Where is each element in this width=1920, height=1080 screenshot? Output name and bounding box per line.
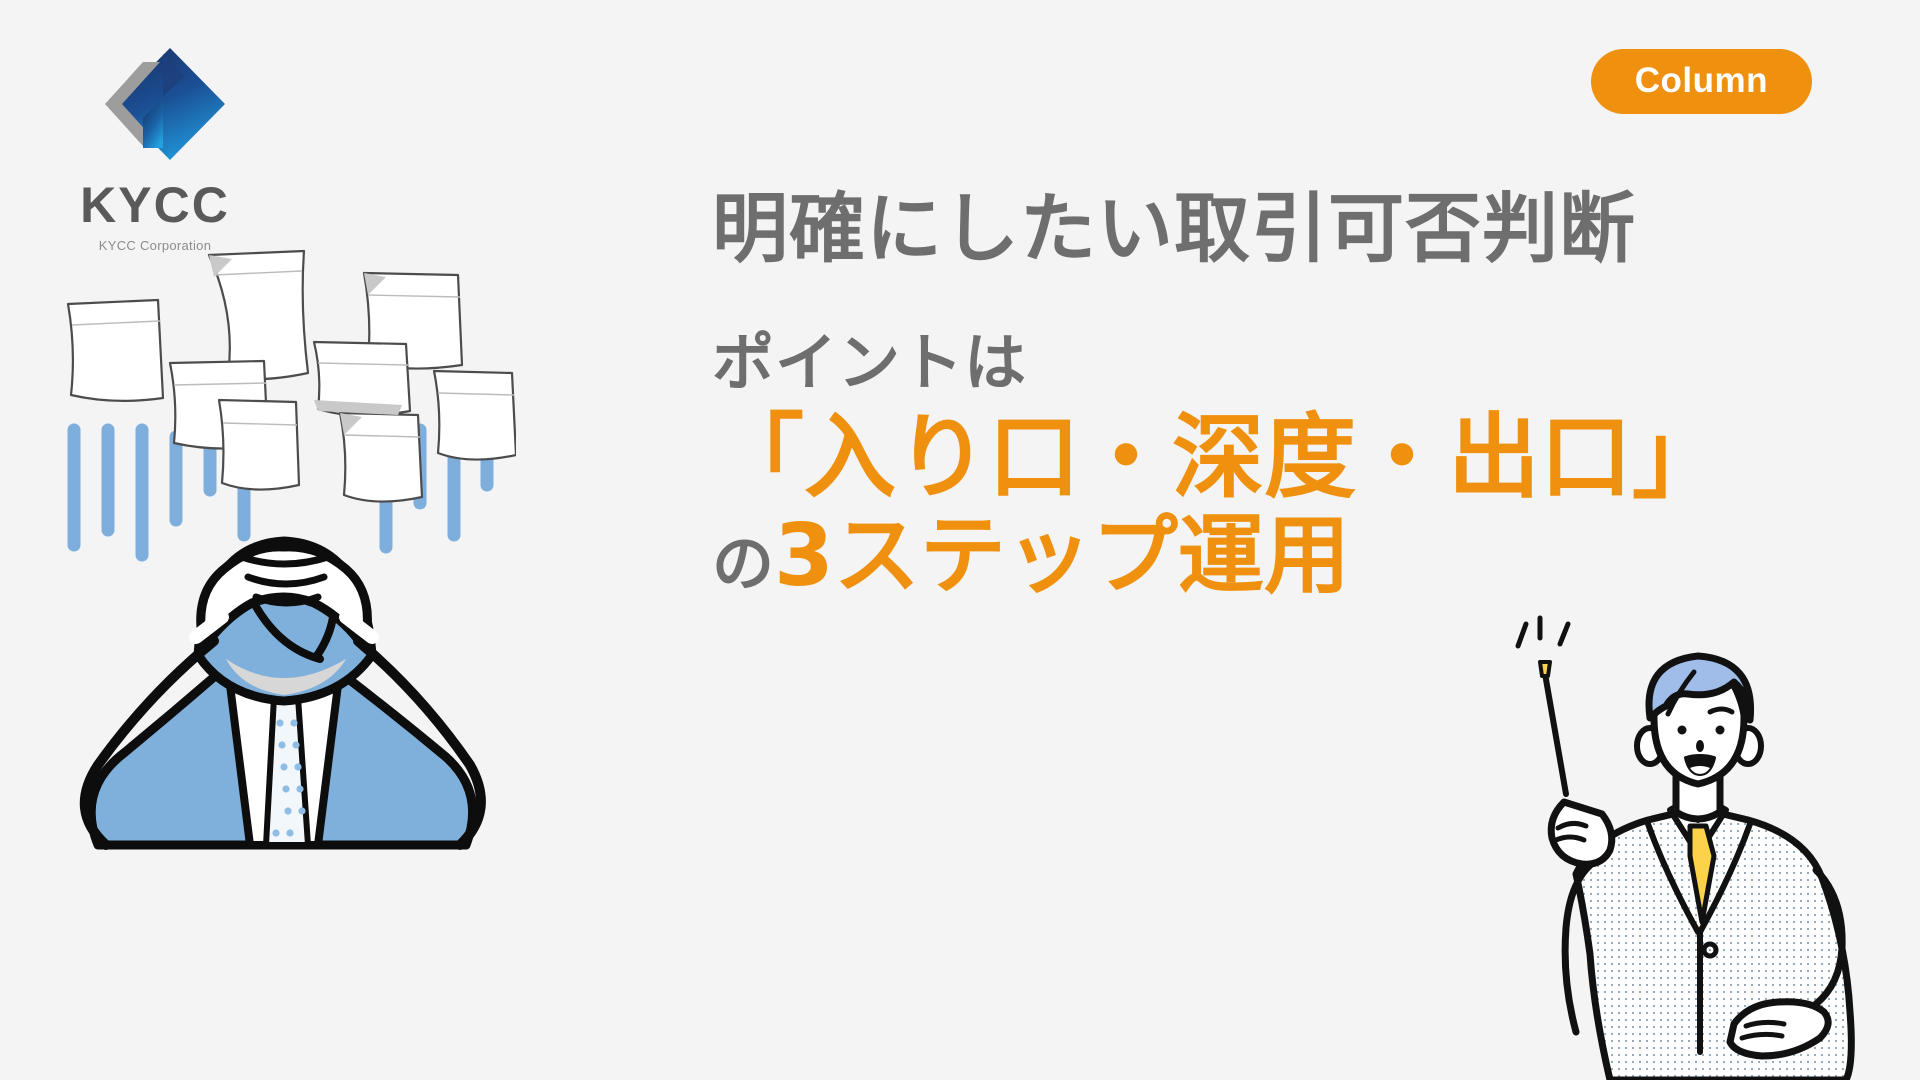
- key-phrase-text: 「入り口・深度・出口」: [712, 410, 1732, 506]
- kycc-diamond-arrow-mark-icon: [65, 36, 235, 176]
- logo-wordmark: KYCC: [55, 180, 255, 230]
- presenter-illustration: [1498, 612, 1920, 1080]
- page-title: 明確にしたい取引可否判断: [712, 188, 1732, 270]
- headline-block: 明確にしたい取引可否判断 ポイントは 「入り口・深度・出口」 の3ステップ運用: [712, 188, 1732, 601]
- banner-root: KYCC KYCC Corporation Column 明確にしたい取引可否判…: [0, 0, 1920, 1080]
- tail-prefix-text: の: [712, 527, 774, 600]
- column-badge[interactable]: Column: [1591, 49, 1812, 114]
- tail-main-text: 3ステップ運用: [774, 506, 1350, 606]
- sub-lead-text: ポイントは: [712, 332, 1732, 394]
- kycc-logo[interactable]: KYCC KYCC Corporation: [55, 36, 255, 253]
- tail-line: の3ステップ運用: [712, 512, 1732, 601]
- stressed-businessman-illustration: [46, 245, 516, 870]
